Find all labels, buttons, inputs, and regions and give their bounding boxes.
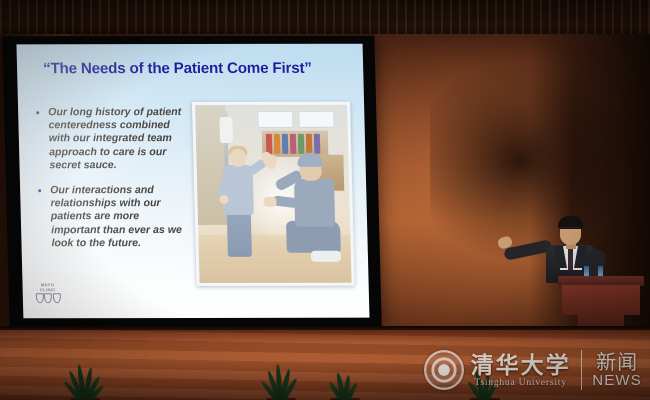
speaker-tie bbox=[568, 248, 573, 270]
slide-title: “The Needs of the Patient Come First” bbox=[43, 60, 344, 78]
mayo-shields-icon bbox=[32, 293, 64, 303]
watermark: 清华大学 Tsinghua University 新闻 NEWS bbox=[424, 346, 642, 394]
photo-shelf bbox=[262, 131, 329, 157]
watermark-university: 清华大学 Tsinghua University bbox=[471, 353, 571, 388]
projection-screen: “The Needs of the Patient Come First” Ou… bbox=[2, 36, 381, 329]
watermark-university-cn: 清华大学 bbox=[471, 353, 571, 378]
potted-plant bbox=[248, 360, 314, 400]
mayo-clinic-logo: MAYO CLINIC bbox=[31, 282, 64, 306]
watermark-divider bbox=[581, 350, 583, 390]
photo-scene: “The Needs of the Patient Come First” Ou… bbox=[0, 0, 650, 400]
photo-window-left bbox=[257, 111, 293, 128]
photo-window-right bbox=[298, 111, 334, 128]
podium-body bbox=[562, 285, 640, 315]
slide-bullet-1: Our long history of patient centeredness… bbox=[32, 106, 186, 172]
glasses-icon bbox=[561, 227, 580, 232]
photo-iv-bag bbox=[219, 117, 233, 143]
slide-bullet-2: Our interactions and relationships with … bbox=[34, 184, 188, 250]
slide-surface: “The Needs of the Patient Come First” Ou… bbox=[16, 44, 369, 319]
watermark-news-cn: 新闻 bbox=[596, 351, 638, 373]
tsinghua-university-seal-icon bbox=[424, 350, 464, 390]
slide-bullet-list: Our long history of patient centeredness… bbox=[32, 106, 188, 262]
mayo-logo-line2: CLINIC bbox=[32, 287, 64, 292]
watermark-news: 新闻 NEWS bbox=[592, 351, 642, 389]
watermark-news-en: NEWS bbox=[592, 373, 642, 389]
potted-plant bbox=[312, 360, 378, 400]
potted-plant bbox=[52, 360, 118, 400]
watermark-university-en: Tsinghua University bbox=[474, 378, 566, 388]
slide-photo bbox=[192, 102, 355, 286]
